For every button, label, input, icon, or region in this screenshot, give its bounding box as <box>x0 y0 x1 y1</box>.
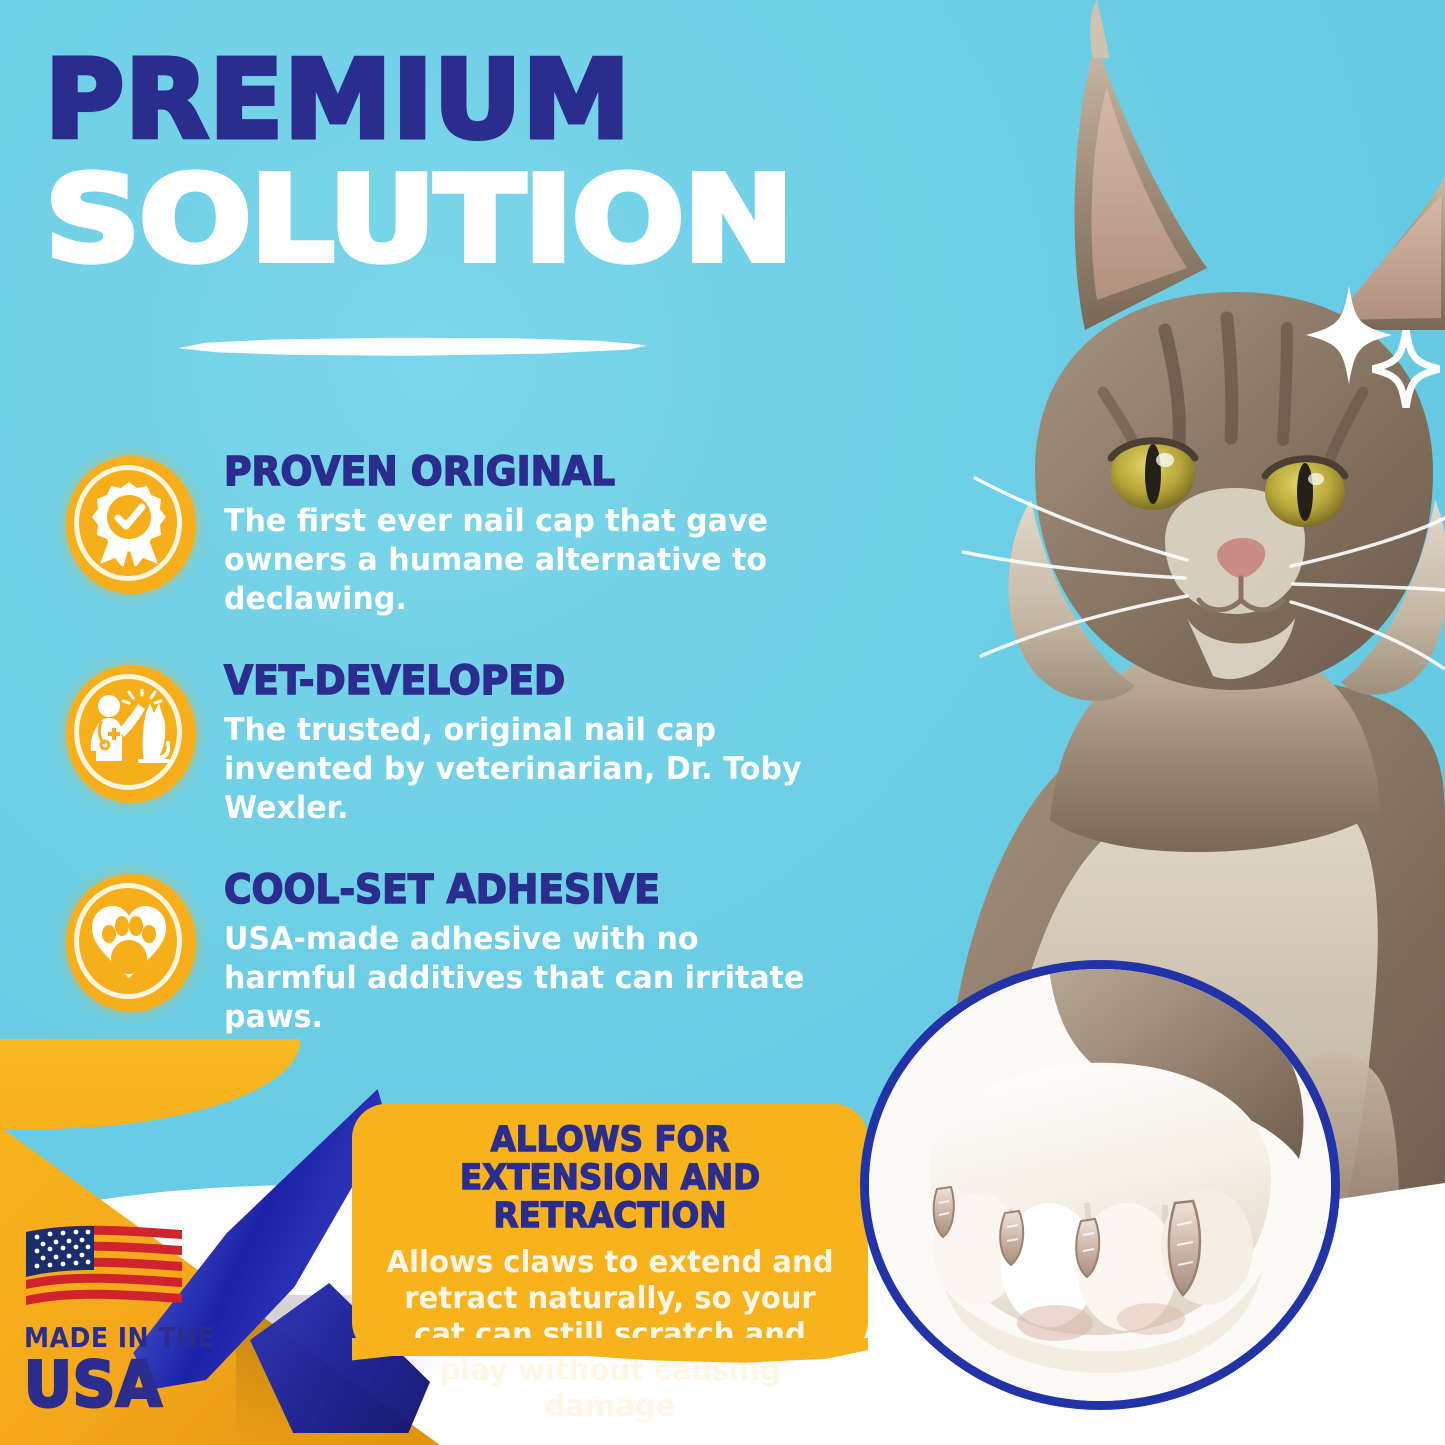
feature-heading: VET-DEVELOPED <box>224 661 794 701</box>
vet-high-five-cat-icon <box>60 657 202 809</box>
heart-paw-icon <box>60 866 202 1018</box>
headline: PREMIUM SOLUTION <box>45 48 825 278</box>
headline-divider-swoosh <box>178 336 648 358</box>
award-ribbon-check-icon <box>60 448 202 600</box>
usa-label: USA <box>24 1352 252 1417</box>
gold-corner-cap <box>0 1039 300 1129</box>
feature-body: The trusted, original nail cap invented … <box>224 711 812 828</box>
callout-heading: ALLOWS FOR EXTENSION AND RETRACTION <box>394 1122 826 1235</box>
paw-zoom-inset <box>860 960 1340 1410</box>
feature-list: PROVEN ORIGINAL The first ever nail cap … <box>60 448 830 1075</box>
sparkle-star-outline-icon <box>1372 330 1440 408</box>
feature-body: USA-made adhesive with no harmful additi… <box>224 920 812 1037</box>
headline-line-premium: PREMIUM <box>45 48 825 154</box>
feature-heading: PROVEN ORIGINAL <box>224 452 794 492</box>
extension-retraction-callout: ALLOWS FOR EXTENSION AND RETRACTION Allo… <box>352 1104 868 1356</box>
feature-item-vet-developed: VET-DEVELOPED The trusted, original nail… <box>60 657 830 828</box>
product-infographic: PREMIUM SOLUTION PROVEN ORIGINAL The fir… <box>0 0 1445 1445</box>
callout-body: Allows claws to extend and retract natur… <box>385 1245 835 1425</box>
feature-heading: COOL-SET ADHESIVE <box>224 870 794 910</box>
made-in-usa-badge: MADE IN THE USA <box>24 1222 264 1417</box>
feature-body: The first ever nail cap that gave owners… <box>224 502 812 619</box>
feature-item-cool-set-adhesive: COOL-SET ADHESIVE USA-made adhesive with… <box>60 866 830 1037</box>
usa-flag-icon <box>24 1222 184 1314</box>
headline-line-solution: SOLUTION <box>45 160 919 278</box>
feature-item-proven-original: PROVEN ORIGINAL The first ever nail cap … <box>60 448 830 619</box>
